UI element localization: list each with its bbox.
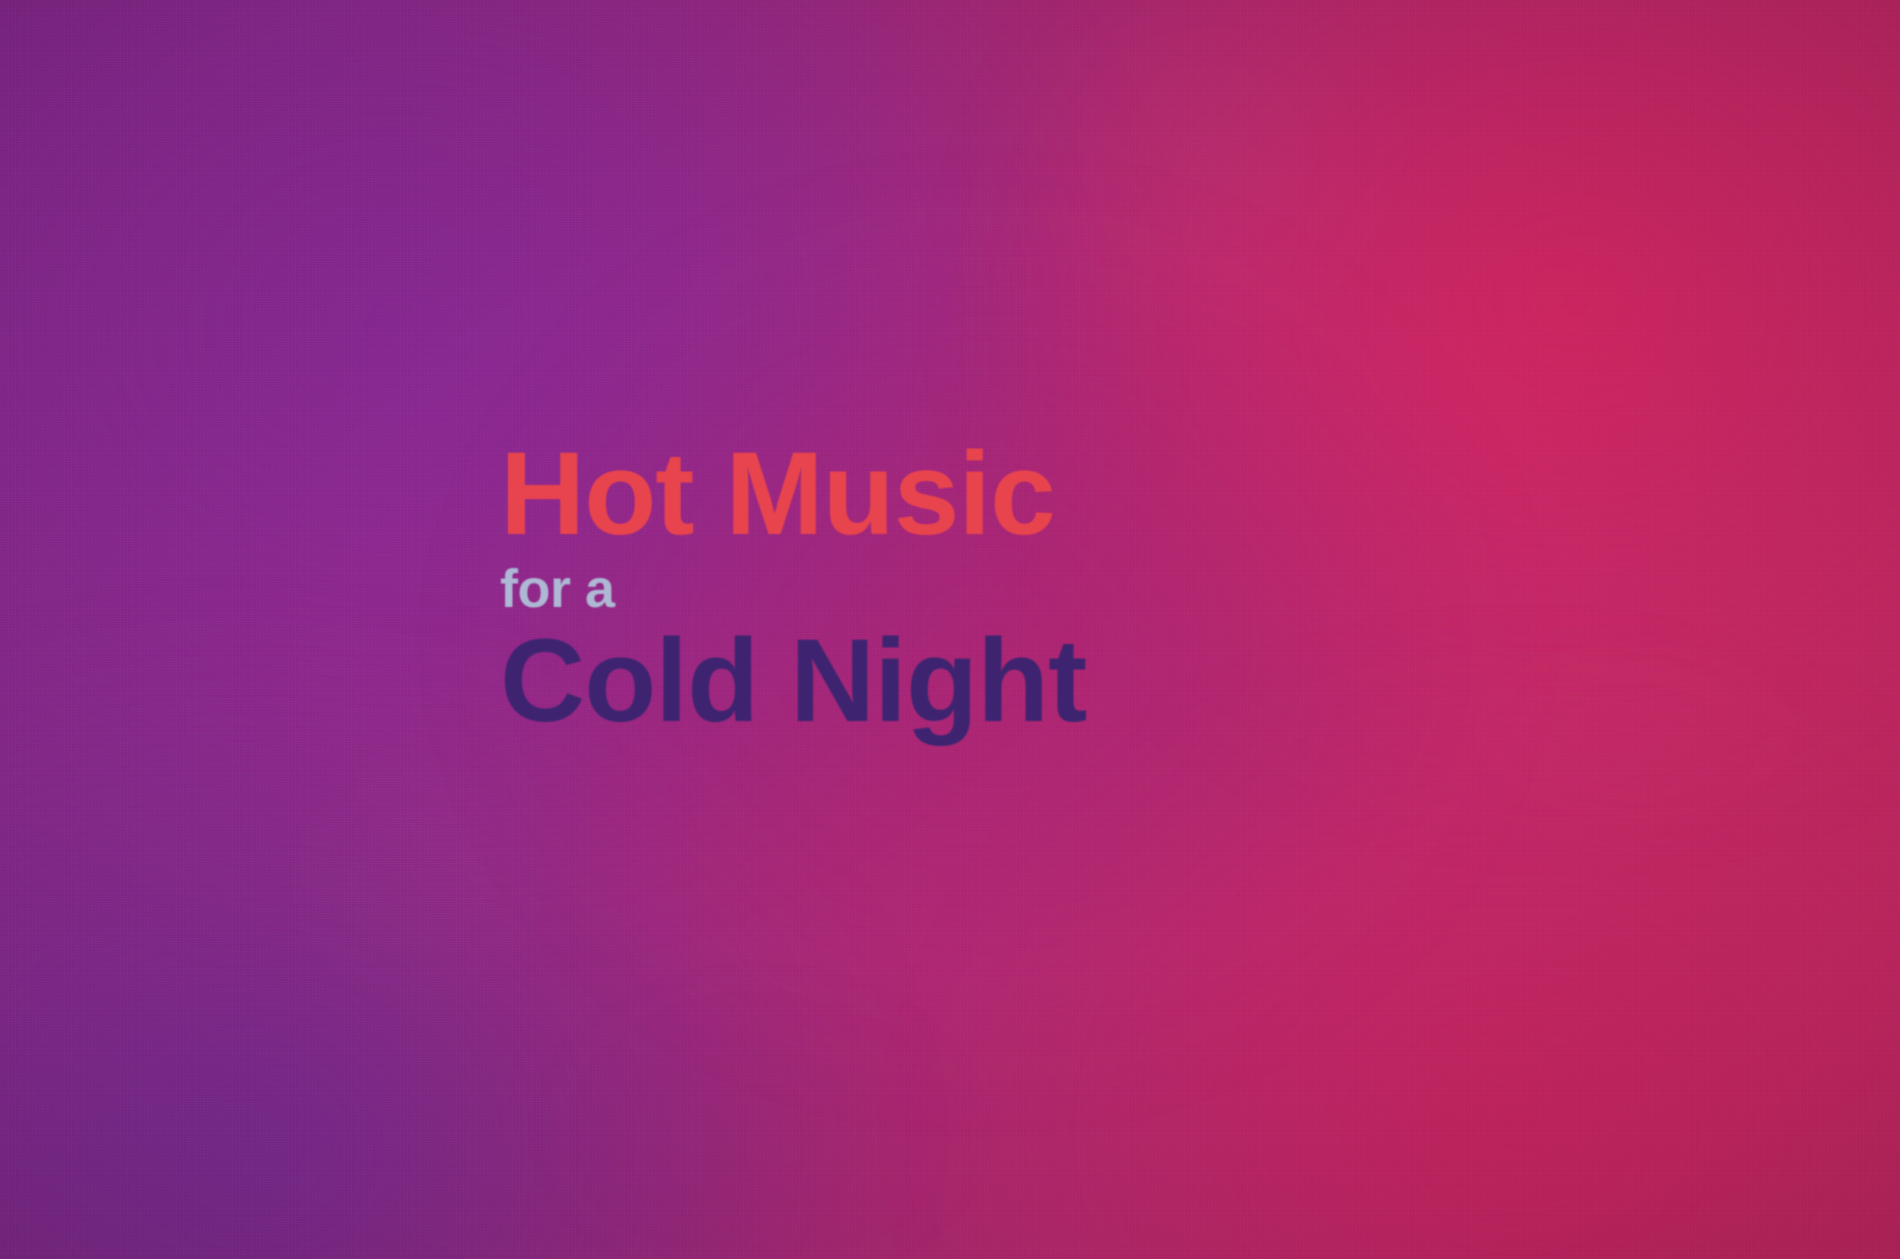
- title-card-canvas: Hot Music for a Cold Night: [0, 0, 1900, 1259]
- title-block: Hot Music for a Cold Night: [500, 438, 1560, 740]
- title-line-cold-night: Cold Night: [500, 622, 1560, 740]
- title-line-hot-music: Hot Music: [500, 438, 1560, 551]
